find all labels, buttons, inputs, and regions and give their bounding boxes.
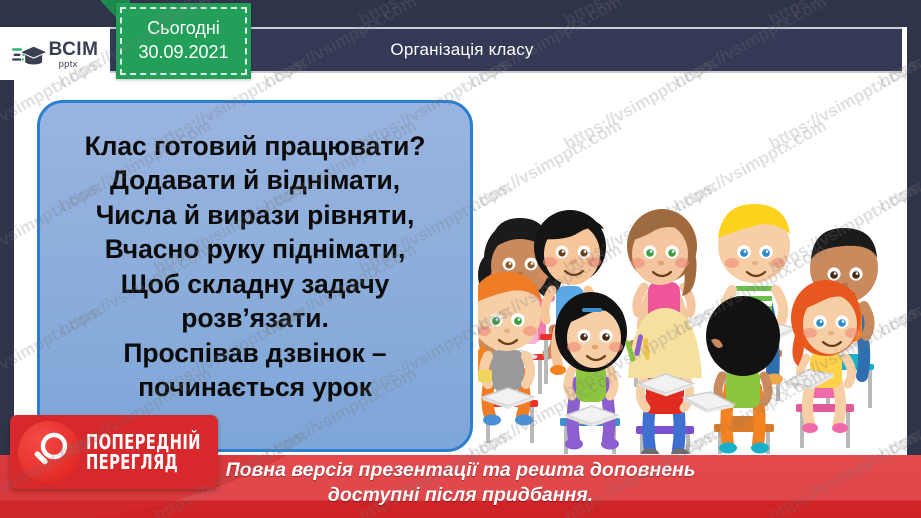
poem-line-8: починається урок xyxy=(40,370,470,404)
magnifier-icon xyxy=(18,421,80,483)
poem-line-5: Щоб складну задачу xyxy=(40,267,470,301)
graduation-cap-icon xyxy=(12,43,46,69)
preview-badge-line-2: ПЕРЕГЛЯД xyxy=(86,452,201,472)
brand-logo[interactable]: ВСІМ pptx xyxy=(0,27,110,80)
date-badge-date: 30.09.2021 xyxy=(138,41,228,65)
page-title: Організація класу xyxy=(390,40,533,60)
today-date-badge: Сьогодні 30.09.2021 xyxy=(116,3,251,79)
poem-line-4: Вчасно руку піднімати, xyxy=(40,232,470,266)
poem-text-box: Клас готовий працювати? Додавати й відні… xyxy=(37,100,473,452)
poem-line-1: Клас готовий працювати? xyxy=(40,129,470,163)
poem-line-2: Додавати й віднімати, xyxy=(40,163,470,197)
date-badge-label: Сьогодні xyxy=(147,17,220,41)
children-at-desks-illustration xyxy=(478,82,898,454)
poem-lines: Клас готовий працювати? Додавати й відні… xyxy=(40,129,470,405)
preview-badge-labels: ПОПЕРЕДНІЙ ПЕРЕГЛЯД xyxy=(86,432,226,472)
slide-frame-right xyxy=(907,0,921,518)
poem-line-3: Числа й вирази рівняти, xyxy=(40,198,470,232)
slide-preview-stage: Організація класу ВСІМ pptx xyxy=(0,0,921,518)
poem-line-6: розв’язати. xyxy=(40,301,470,335)
logo-wordmark: ВСІМ xyxy=(49,40,99,59)
preview-badge-line-1: ПОПЕРЕДНІЙ xyxy=(86,432,201,452)
poem-line-7: Проспівав дзвінок – xyxy=(40,336,470,370)
preview-badge[interactable]: ПОПЕРЕДНІЙ ПЕРЕГЛЯД xyxy=(10,415,218,489)
logo-subtext: pptx xyxy=(59,60,78,70)
